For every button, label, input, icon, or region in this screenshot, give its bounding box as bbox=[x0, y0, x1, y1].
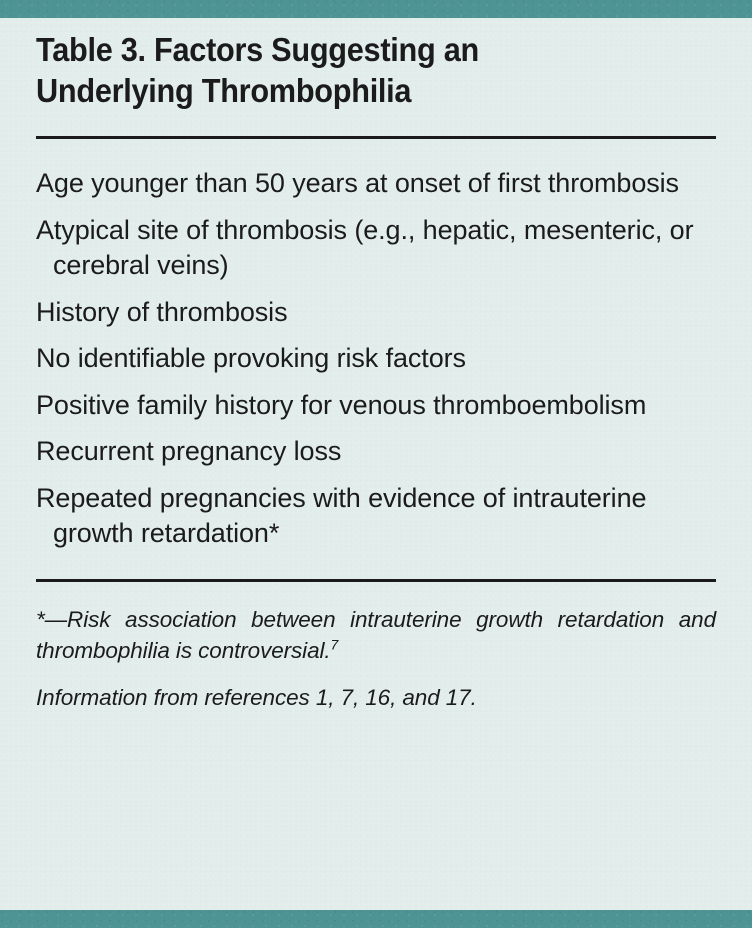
title-divider-rule bbox=[36, 136, 716, 139]
bottom-accent-bar bbox=[0, 910, 752, 928]
footnote-divider-rule bbox=[36, 579, 716, 582]
reference-superscript: 7 bbox=[331, 636, 339, 652]
list-item: History of thrombosis bbox=[36, 295, 716, 331]
list-item: Recurrent pregnancy loss bbox=[36, 434, 716, 470]
table-title-line-1: Table 3. Factors Suggesting an bbox=[36, 29, 668, 70]
asterisk-footnote-text: *—Risk association between intrauterine … bbox=[36, 607, 716, 663]
source-footnote: Information from references 1, 7, 16, an… bbox=[36, 682, 716, 713]
factors-list: Age younger than 50 years at onset of fi… bbox=[36, 166, 716, 552]
asterisk-footnote: *—Risk association between intrauterine … bbox=[36, 604, 716, 666]
table-content: Table 3. Factors Suggesting an Underlyin… bbox=[0, 0, 752, 713]
list-item: Age younger than 50 years at onset of fi… bbox=[36, 166, 716, 202]
list-item: Positive family history for venous throm… bbox=[36, 388, 716, 424]
table-figure: Table 3. Factors Suggesting an Underlyin… bbox=[0, 0, 752, 928]
footnote-block: *—Risk association between intrauterine … bbox=[36, 604, 716, 713]
list-item: No identifiable provoking risk factors bbox=[36, 341, 716, 377]
table-title-line-2: Underlying Thrombophilia bbox=[36, 70, 668, 111]
top-accent-bar bbox=[0, 0, 752, 18]
list-item: Repeated pregnancies with evidence of in… bbox=[36, 481, 716, 552]
list-item: Atypical site of thrombosis (e.g., hepat… bbox=[36, 213, 716, 284]
